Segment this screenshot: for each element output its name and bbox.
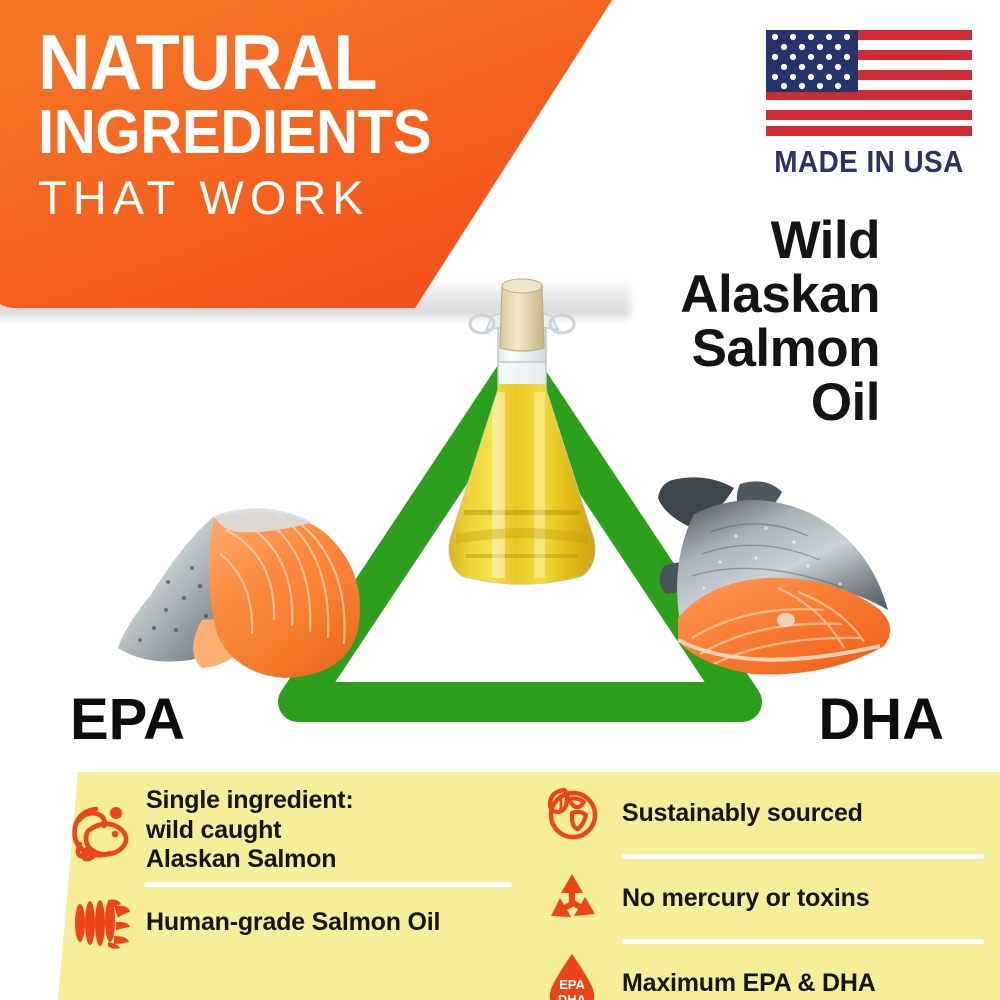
product-title-line-3: Salmon <box>460 322 880 376</box>
feature-text-no-mercury: No mercury or toxins <box>622 884 869 914</box>
headline-line-2: INGREDIENTS <box>38 101 452 164</box>
fish-circle-icon <box>66 796 134 864</box>
product-title: Wild Alaskan Salmon Oil <box>460 214 880 430</box>
feature-item-sustainably-sourced: Sustainably sourced <box>536 780 992 848</box>
feature-line-2: wild caught <box>146 816 354 846</box>
feature-columns: Single ingredient: wild caught Alaskan S… <box>48 772 1000 1000</box>
feature-text-human-grade: Human-grade Salmon Oil <box>146 908 440 938</box>
droplet-text-dha: DHA <box>558 992 587 1000</box>
infographic-canvas: NATURAL INGREDIENTS THAT WORK <box>0 0 1000 1000</box>
feature-divider-right-1 <box>622 854 984 859</box>
epa-dha-droplet-icon: EPA DHA <box>536 951 608 1000</box>
feature-text-single-ingredient: Single ingredient: wild caught Alaskan S… <box>146 786 354 875</box>
made-in-usa-badge: MADE IN USA <box>758 30 980 180</box>
product-title-line-1: Wild <box>460 214 880 268</box>
feature-divider-right-2 <box>622 939 984 944</box>
feature-item-no-mercury: No mercury or toxins <box>536 865 992 933</box>
label-epa: EPA <box>70 686 185 753</box>
salmon-steak-icon <box>66 894 134 952</box>
salmon-steak-icon <box>648 470 938 700</box>
droplet-text-epa: EPA <box>559 977 585 992</box>
feature-line-1: Single ingredient: <box>146 786 354 816</box>
feature-column-right: Sustainably sourced No mercury or toxins <box>528 772 1000 1000</box>
usa-flag-icon <box>766 30 972 136</box>
salmon-fillet-icon <box>106 470 396 695</box>
product-title-line-4: Oil <box>460 376 880 430</box>
feature-line-3: Alaskan Salmon <box>146 845 354 875</box>
feature-divider-left <box>144 882 512 887</box>
feature-text-maximum-epa-dha: Maximum EPA & DHA <box>622 969 876 999</box>
feature-item-single-ingredient: Single ingredient: wild caught Alaskan S… <box>66 786 518 875</box>
feature-column-left: Single ingredient: wild caught Alaskan S… <box>48 772 528 1000</box>
feature-item-maximum-epa-dha: EPA DHA Maximum EPA & DHA <box>536 950 992 1000</box>
feature-text-sustainably-sourced: Sustainably sourced <box>622 799 863 829</box>
recycle-icon <box>536 870 608 928</box>
banner-headline-group: NATURAL INGREDIENTS THAT WORK <box>38 26 478 223</box>
globe-leaf-icon <box>536 784 608 844</box>
feature-item-human-grade: Human-grade Salmon Oil <box>66 894 518 952</box>
label-dha: DHA <box>818 686 944 753</box>
headline-line-1: NATURAL <box>38 26 447 99</box>
headline-line-3: THAT WORK <box>38 172 478 224</box>
made-in-usa-label: MADE IN USA <box>769 144 969 180</box>
product-title-line-2: Alaskan <box>460 268 880 322</box>
